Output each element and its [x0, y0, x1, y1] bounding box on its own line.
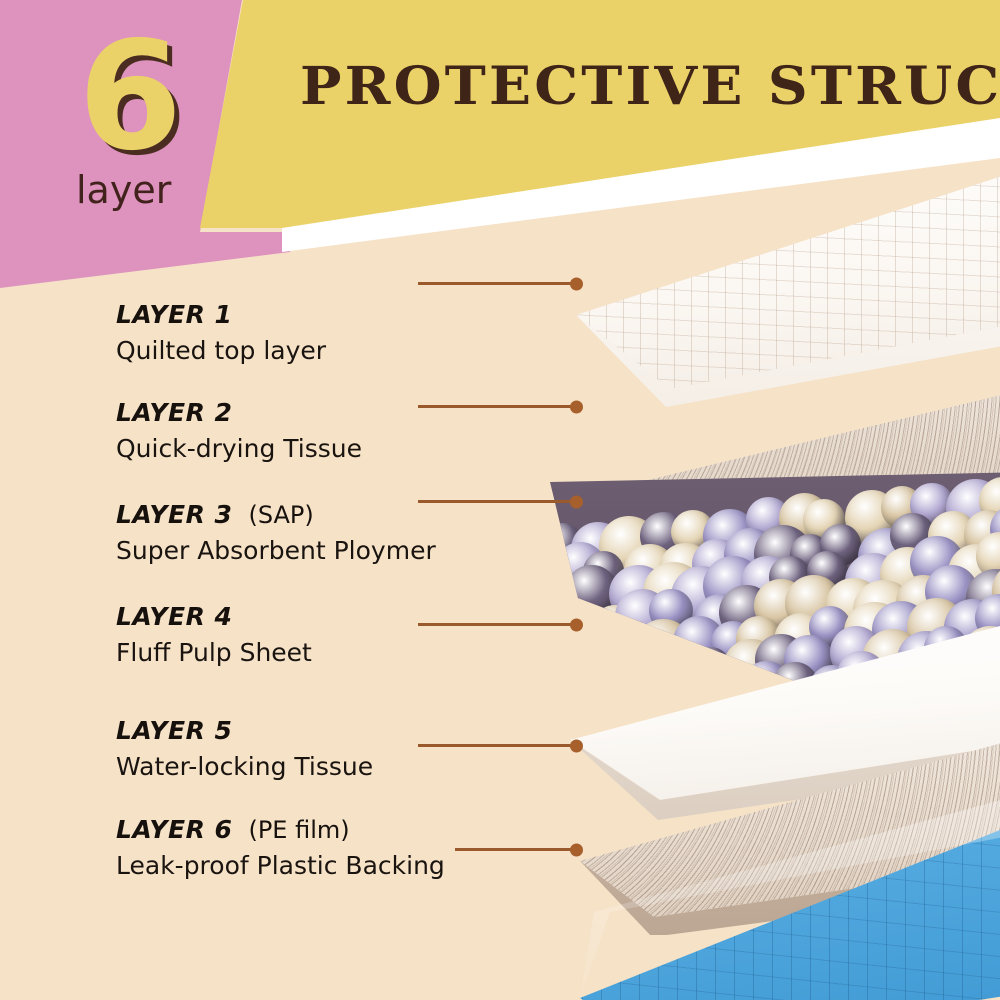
layer-6-heading: LAYER 6(PE film)	[116, 815, 516, 844]
leader-dot-3	[570, 495, 583, 508]
layer-entry-5: LAYER 5 Water-locking Tissue	[116, 716, 516, 781]
layer-2-heading: LAYER 2	[116, 398, 516, 427]
layer-1-heading-text: LAYER 1	[116, 300, 232, 329]
layer-entry-3: LAYER 3(SAP) Super Absorbent Ploymer	[116, 500, 516, 565]
infographic-canvas: 6 layer PROTECTIVE STRUCTURE LAYER 1	[0, 0, 1000, 1000]
layer-6-heading-text: LAYER 6	[116, 815, 232, 844]
layer-entry-2: LAYER 2 Quick-drying Tissue	[116, 398, 516, 463]
sap-bead	[598, 673, 652, 727]
leader-dot-4	[570, 618, 583, 631]
layer-5-description: Water-locking Tissue	[116, 752, 516, 781]
layer-3-heading-text: LAYER 3	[116, 500, 232, 529]
layer-6-tag: (PE film)	[248, 816, 349, 844]
layer-6-description: Leak-proof Plastic Backing	[116, 851, 516, 880]
layer-3-tag: (SAP)	[248, 501, 313, 529]
layer-4-heading-text: LAYER 4	[116, 602, 232, 631]
layer-5-heading-text: LAYER 5	[116, 716, 232, 745]
leader-dot-6	[570, 843, 583, 856]
leader-dot-2	[570, 400, 583, 413]
sap-bead	[614, 655, 667, 708]
sap-bead	[690, 647, 731, 688]
leader-line-1	[418, 282, 578, 285]
layer-1-description: Quilted top layer	[116, 336, 516, 365]
layer-3-heading: LAYER 3(SAP)	[116, 500, 516, 529]
layer-2-description: Quick-drying Tissue	[116, 434, 516, 463]
sap-bead	[607, 629, 662, 684]
sap-bead	[550, 659, 594, 703]
page-title: PROTECTIVE STRUCTURE	[300, 56, 1000, 117]
leader-dot-1	[570, 277, 583, 290]
sap-bead	[657, 652, 708, 703]
layer-4-heading: LAYER 4	[116, 602, 516, 631]
layer-entry-6: LAYER 6(PE film) Leak-proof Plastic Back…	[116, 815, 516, 880]
layer-5-heading: LAYER 5	[116, 716, 516, 745]
layer-count-word: layer	[76, 168, 171, 212]
layer-count-number: 6	[78, 22, 180, 172]
leader-dot-5	[570, 739, 583, 752]
layer-entry-4: LAYER 4 Fluff Pulp Sheet	[116, 602, 516, 667]
layer-3-description: Super Absorbent Ploymer	[116, 536, 516, 565]
layer-2-heading-text: LAYER 2	[116, 398, 232, 427]
layer-entry-1: LAYER 1 Quilted top layer	[116, 300, 516, 365]
layer-1-heading: LAYER 1	[116, 300, 516, 329]
layer-4-description: Fluff Pulp Sheet	[116, 638, 516, 667]
sap-bead	[586, 658, 628, 700]
